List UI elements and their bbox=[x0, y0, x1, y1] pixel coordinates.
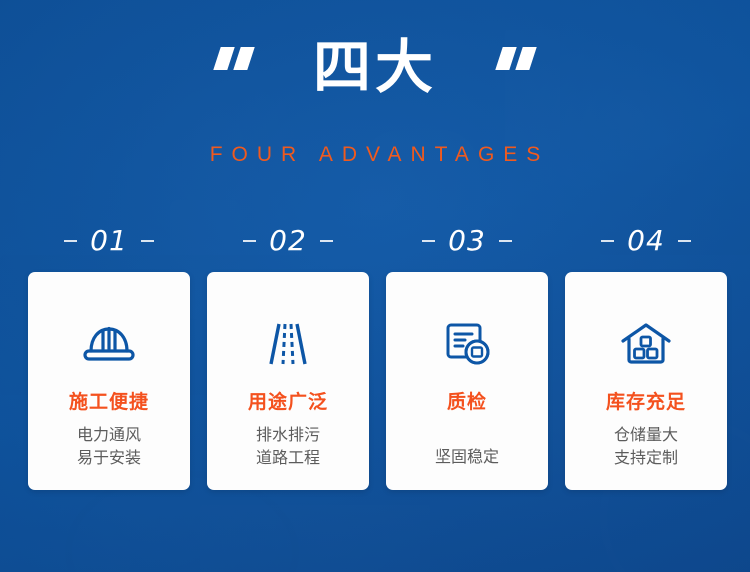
header: 四大 FOUR ADVANTAGES bbox=[0, 0, 750, 200]
card-desc-line: 电力通风 bbox=[77, 424, 141, 447]
advantages-banner: 四大 FOUR ADVANTAGES 01 bbox=[0, 0, 750, 572]
card-title: 质检 bbox=[447, 393, 487, 412]
advantage-card-list: 01 施工便捷 电力通风 易于安装 bbox=[28, 222, 722, 490]
dash-left-icon bbox=[601, 240, 614, 242]
dash-right-icon bbox=[320, 240, 333, 242]
card-number: 01 bbox=[90, 227, 128, 255]
card-desc-line: 易于安装 bbox=[77, 447, 141, 470]
card-number-badge: 02 bbox=[243, 222, 333, 260]
page-title: 四大 bbox=[313, 38, 437, 96]
warehouse-house-icon bbox=[619, 316, 673, 372]
card-number: 02 bbox=[269, 227, 307, 255]
quality-inspection-document-icon bbox=[441, 316, 493, 372]
dash-left-icon bbox=[422, 240, 435, 242]
card-title: 施工便捷 bbox=[69, 393, 149, 412]
advantage-card[interactable]: 库存充足 仓储量大 支持定制 bbox=[565, 272, 727, 490]
card-desc-line: 坚固稳定 bbox=[435, 446, 499, 469]
card-description: 仓储量大 支持定制 bbox=[614, 424, 678, 469]
dash-right-icon bbox=[141, 240, 154, 242]
card-description: 排水排污 道路工程 bbox=[256, 424, 320, 469]
card-number-badge: 01 bbox=[64, 222, 154, 260]
card-description: 电力通风 易于安装 bbox=[77, 424, 141, 469]
card-title: 用途广泛 bbox=[248, 393, 328, 412]
advantage-card-01: 01 施工便捷 电力通风 易于安装 bbox=[28, 222, 190, 490]
card-description: 坚固稳定 bbox=[435, 446, 499, 469]
advantage-card-02: 02 用途广泛 排水排污 道路工程 bbox=[207, 222, 369, 490]
quote-open-icon bbox=[217, 47, 251, 70]
card-desc-line: 仓储量大 bbox=[614, 424, 678, 447]
card-desc-line: 排水排污 bbox=[256, 424, 320, 447]
card-number-badge: 04 bbox=[601, 222, 691, 260]
card-desc-line: 支持定制 bbox=[614, 447, 678, 470]
dash-left-icon bbox=[64, 240, 77, 242]
card-number-badge: 03 bbox=[422, 222, 512, 260]
quote-close-icon bbox=[499, 47, 533, 70]
advantage-card[interactable]: 用途广泛 排水排污 道路工程 bbox=[207, 272, 369, 490]
advantage-card[interactable]: 质检 坚固稳定 bbox=[386, 272, 548, 490]
dash-left-icon bbox=[243, 240, 256, 242]
card-number: 04 bbox=[627, 227, 665, 255]
dash-right-icon bbox=[678, 240, 691, 242]
card-number: 03 bbox=[448, 227, 486, 255]
card-desc-line: 道路工程 bbox=[256, 447, 320, 470]
page-subtitle: FOUR ADVANTAGES bbox=[0, 143, 750, 167]
title-row: 四大 bbox=[0, 38, 750, 96]
advantage-card[interactable]: 施工便捷 电力通风 易于安装 bbox=[28, 272, 190, 490]
road-icon bbox=[262, 316, 314, 372]
card-title: 库存充足 bbox=[606, 393, 686, 412]
dash-right-icon bbox=[499, 240, 512, 242]
hard-hat-icon bbox=[81, 316, 137, 372]
advantage-card-03: 03 质检 坚固稳定 bbox=[386, 222, 548, 490]
advantage-card-04: 04 库存充足 仓储量大 支持定制 bbox=[565, 222, 727, 490]
